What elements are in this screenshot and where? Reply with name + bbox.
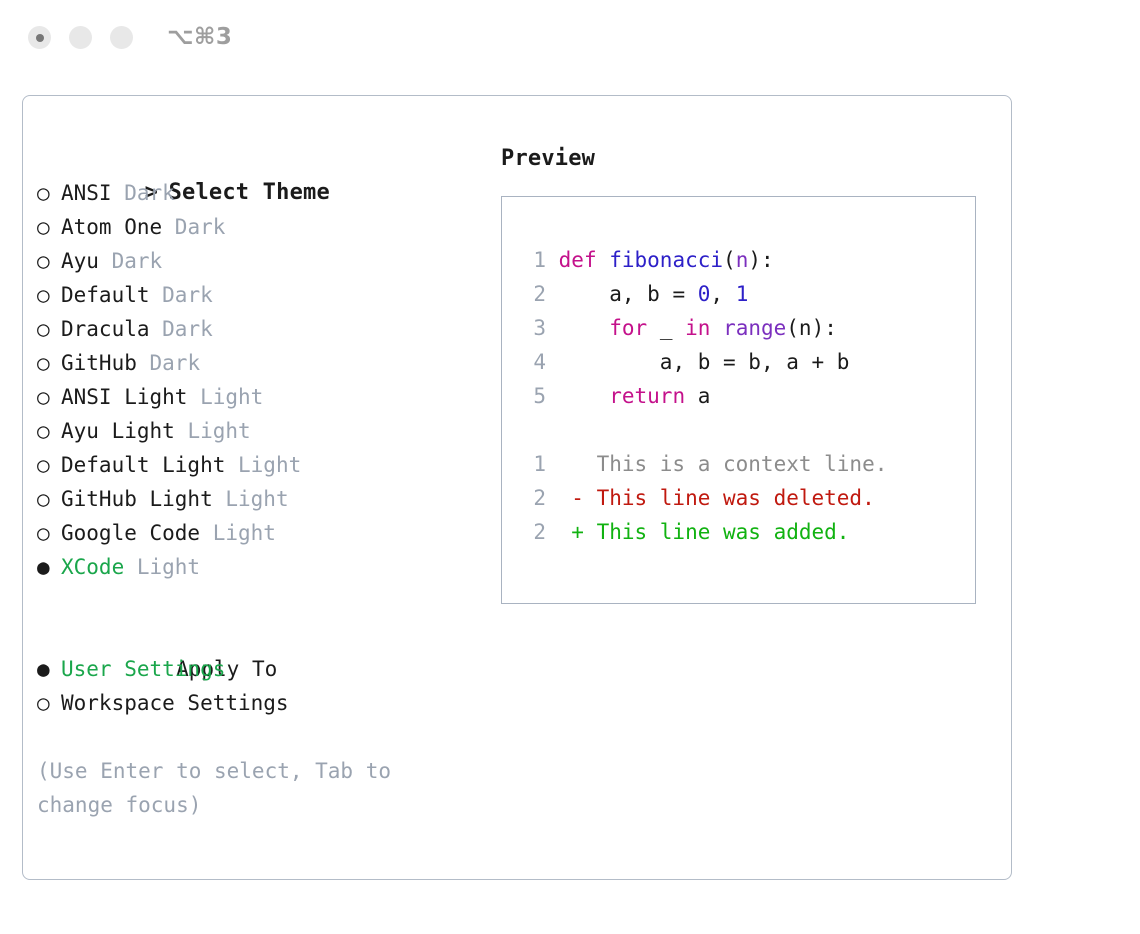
radio-selected-icon: ● <box>37 550 61 584</box>
theme-list-item[interactable]: ●XCode Light <box>37 550 477 584</box>
theme-variant-label: Light <box>213 521 276 545</box>
diff-line-number: 2 <box>524 515 546 549</box>
code-sample: 1 def fibonacci(n):2 a, b = 0, 13 for _ … <box>524 243 975 413</box>
radio-unselected-icon: ○ <box>37 278 61 312</box>
theme-variant-label: Dark <box>162 283 213 307</box>
diff-sample: 1 This is a context line.2 - This line w… <box>524 447 975 549</box>
preview-heading: Preview <box>501 142 996 176</box>
code-diff-separator <box>524 413 975 447</box>
maximize-window-button[interactable] <box>110 26 133 49</box>
select-theme-heading-label: Select Theme <box>169 180 330 205</box>
theme-variant-label: Light <box>200 385 263 409</box>
code-token: _ <box>647 316 685 340</box>
theme-variant-label: Dark <box>124 181 175 205</box>
diff-line-text: - This line was deleted. <box>546 486 875 510</box>
code-token: 0 <box>698 282 711 306</box>
code-token: range <box>723 316 786 340</box>
diff-line-number: 2 <box>524 481 546 515</box>
code-token: a, b = <box>559 282 698 306</box>
theme-list-item[interactable]: ○Ayu Dark <box>37 244 477 278</box>
keyboard-hint-line-2: change focus) <box>37 788 457 822</box>
radio-unselected-icon: ○ <box>37 312 61 346</box>
code-token <box>559 384 610 408</box>
theme-name: ANSI <box>61 181 124 205</box>
theme-list-item[interactable]: ○Default Light Light <box>37 448 477 482</box>
preview-code-box: 1 def fibonacci(n):2 a, b = 0, 13 for _ … <box>501 196 976 604</box>
theme-name: ANSI Light <box>61 385 200 409</box>
code-token: a <box>685 384 710 408</box>
radio-unselected-icon: ○ <box>37 414 61 448</box>
keyboard-hint: (Use Enter to select, Tab to change focu… <box>37 754 457 822</box>
theme-name: Ayu <box>61 249 112 273</box>
code-token: ( <box>723 248 736 272</box>
theme-variant-label: Dark <box>150 351 201 375</box>
theme-list-item[interactable]: ○GitHub Dark <box>37 346 477 380</box>
code-token: def <box>559 248 610 272</box>
theme-name: GitHub Light <box>61 487 225 511</box>
app-window: ⌥⌘3 >Select Theme ○ANSI Dark○Atom One Da… <box>0 0 1140 934</box>
theme-name: Google Code <box>61 521 213 545</box>
theme-name: Default Light <box>61 453 238 477</box>
theme-name: Dracula <box>61 317 162 341</box>
code-token: (n): <box>786 316 837 340</box>
theme-variant-label: Light <box>238 453 301 477</box>
diff-line: 2 + This line was added. <box>524 515 975 549</box>
theme-list-item[interactable]: ○Ayu Light Light <box>37 414 477 448</box>
diff-line-text: + This line was added. <box>546 520 849 544</box>
code-token <box>710 316 723 340</box>
radio-unselected-icon: ○ <box>37 210 61 244</box>
code-token: fibonacci <box>609 248 723 272</box>
code-token: , <box>710 282 735 306</box>
radio-unselected-icon: ○ <box>37 346 61 380</box>
theme-variant-label: Dark <box>112 249 163 273</box>
theme-name: Ayu Light <box>61 419 187 443</box>
window-shortcut-label: ⌥⌘3 <box>167 24 232 50</box>
code-line-number: 3 <box>524 311 546 345</box>
apply-to-section: Apply To ●User Settings○Workspace Settin… <box>37 618 477 720</box>
code-token: in <box>685 316 710 340</box>
theme-selection-column: >Select Theme ○ANSI Dark○Atom One Dark○A… <box>37 142 477 822</box>
code-line-number: 1 <box>524 243 546 277</box>
apply-to-heading: Apply To <box>37 618 477 652</box>
diff-line: 2 - This line was deleted. <box>524 481 975 515</box>
theme-list: ○ANSI Dark○Atom One Dark○Ayu Dark○Defaul… <box>37 176 477 584</box>
theme-variant-label: Dark <box>175 215 226 239</box>
theme-name: Atom One <box>61 215 175 239</box>
radio-unselected-icon: ○ <box>37 516 61 550</box>
minimize-window-button[interactable] <box>69 26 92 49</box>
code-line: 5 return a <box>524 379 975 413</box>
diff-line: 1 This is a context line. <box>524 447 975 481</box>
code-token: a, b = b, a + b <box>559 350 850 374</box>
code-line-number: 2 <box>524 277 546 311</box>
theme-variant-label: Dark <box>162 317 213 341</box>
code-token: for <box>609 316 647 340</box>
theme-picker-panel: >Select Theme ○ANSI Dark○Atom One Dark○A… <box>22 95 1012 880</box>
diff-line-number: 1 <box>524 447 546 481</box>
radio-unselected-icon: ○ <box>37 448 61 482</box>
theme-list-item[interactable]: ○Default Dark <box>37 278 477 312</box>
keyboard-hint-line-1: (Use Enter to select, Tab to <box>37 754 457 788</box>
apply-to-option-label: User Settings <box>61 657 225 681</box>
theme-variant-label: Light <box>137 555 200 579</box>
theme-name: Default <box>61 283 162 307</box>
radio-unselected-icon: ○ <box>37 176 61 210</box>
apply-to-option-label: Workspace Settings <box>61 691 289 715</box>
radio-unselected-icon: ○ <box>37 482 61 516</box>
code-line-number: 4 <box>524 345 546 379</box>
theme-list-item[interactable]: ○Google Code Light <box>37 516 477 550</box>
code-line: 3 for _ in range(n): <box>524 311 975 345</box>
radio-selected-icon: ● <box>37 652 61 686</box>
select-theme-heading: >Select Theme <box>37 142 477 176</box>
preview-column: Preview 1 def fibonacci(n):2 a, b = 0, 1… <box>501 142 996 604</box>
code-token: n <box>736 248 749 272</box>
radio-unselected-icon: ○ <box>37 380 61 414</box>
apply-to-option[interactable]: ○Workspace Settings <box>37 686 477 720</box>
theme-list-item[interactable]: ○ANSI Light Light <box>37 380 477 414</box>
theme-list-item[interactable]: ○Atom One Dark <box>37 210 477 244</box>
theme-list-item[interactable]: ○GitHub Light Light <box>37 482 477 516</box>
code-line-number: 5 <box>524 379 546 413</box>
theme-list-item[interactable]: ○Dracula Dark <box>37 312 477 346</box>
close-window-button[interactable] <box>28 26 51 49</box>
code-line: 4 a, b = b, a + b <box>524 345 975 379</box>
diff-line-text: This is a context line. <box>546 452 887 476</box>
code-token <box>559 316 610 340</box>
theme-name: GitHub <box>61 351 150 375</box>
code-token: return <box>609 384 685 408</box>
code-token: ): <box>748 248 773 272</box>
theme-name: XCode <box>61 555 137 579</box>
radio-unselected-icon: ○ <box>37 244 61 278</box>
theme-variant-label: Light <box>225 487 288 511</box>
theme-variant-label: Light <box>187 419 250 443</box>
code-line: 2 a, b = 0, 1 <box>524 277 975 311</box>
code-token: 1 <box>736 282 749 306</box>
code-line: 1 def fibonacci(n): <box>524 243 975 277</box>
traffic-light-group <box>28 26 133 49</box>
radio-unselected-icon: ○ <box>37 686 61 720</box>
title-bar: ⌥⌘3 <box>0 0 1140 78</box>
